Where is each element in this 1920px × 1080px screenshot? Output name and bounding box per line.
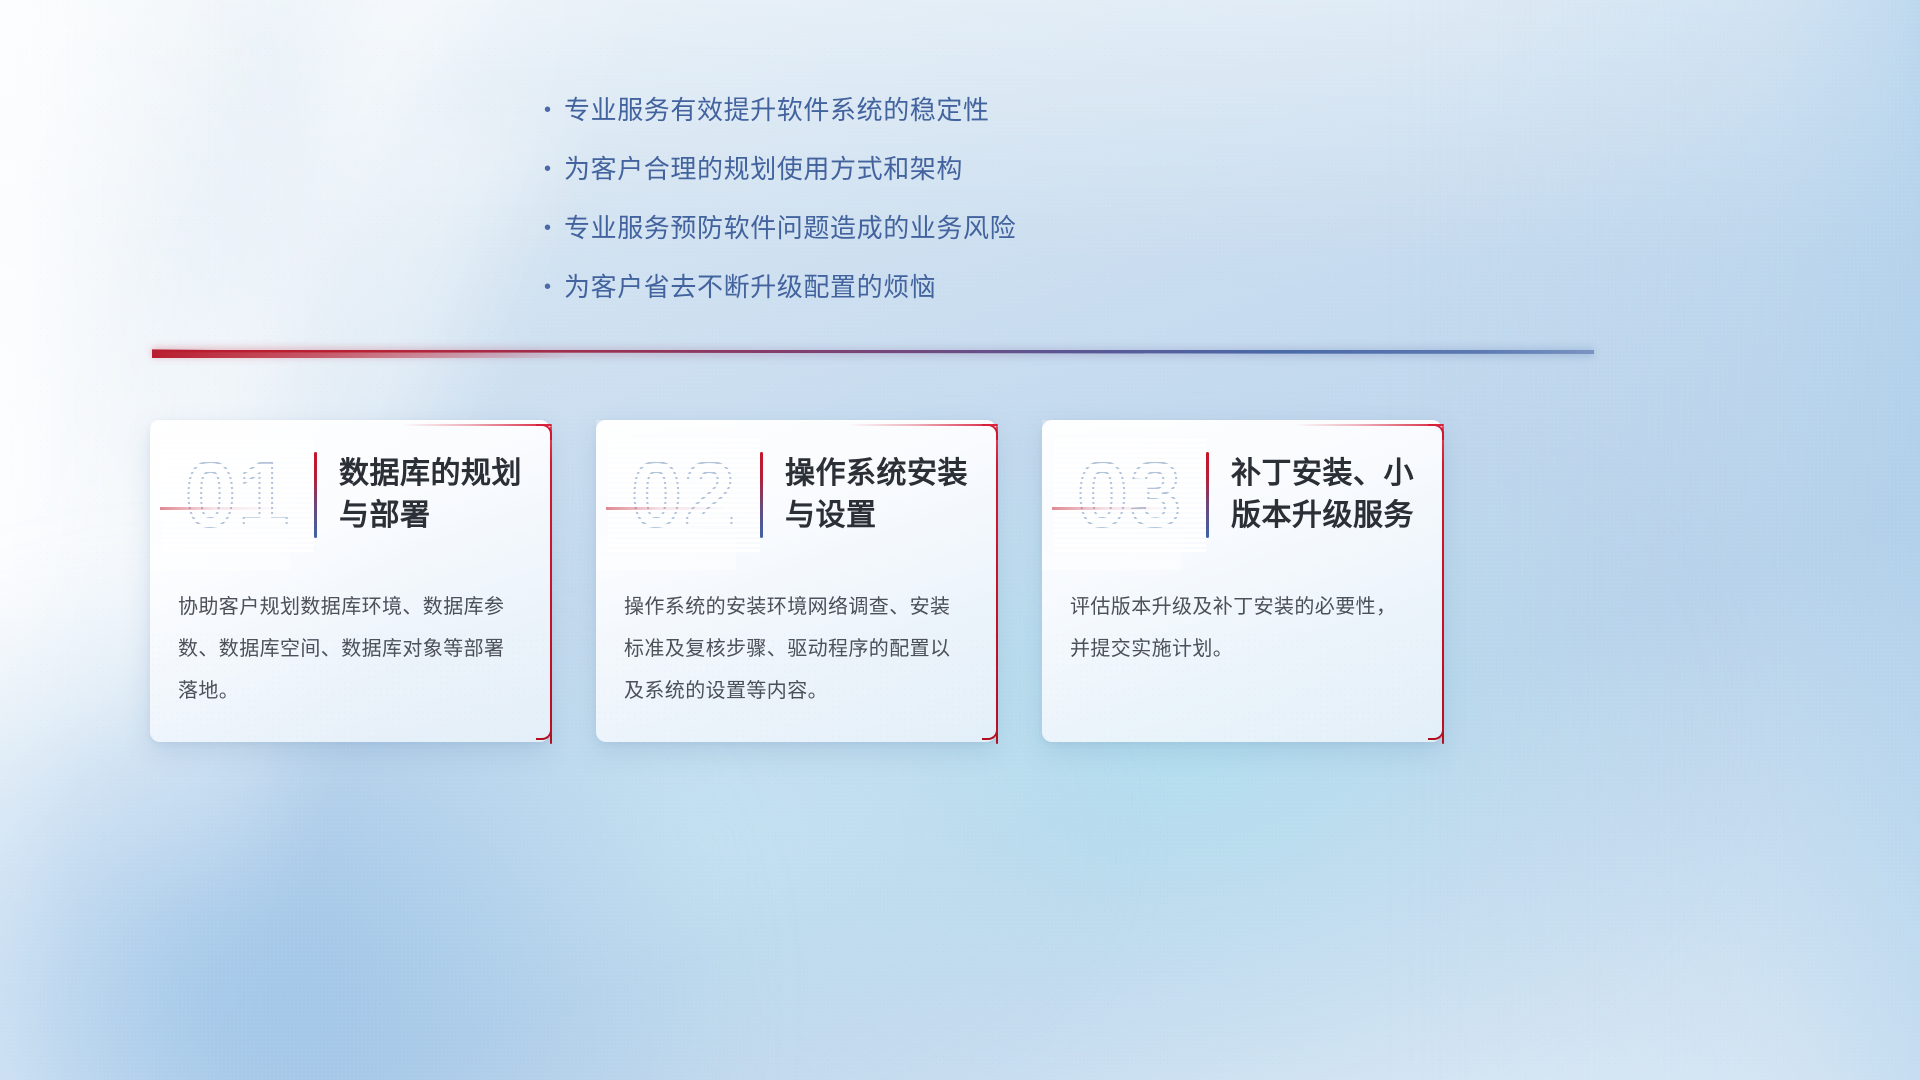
card-title: 数据库的规划与部署 <box>339 453 550 537</box>
card-accent-bar <box>996 426 998 744</box>
card-title: 补丁安装、小版本升级服务 <box>1231 453 1442 537</box>
card-header: 01 数据库的规划与部署 <box>150 420 550 570</box>
bullet-text: 专业服务预防软件问题造成的业务风险 <box>564 210 1016 246</box>
bullet-item: • 为客户合理的规划使用方式和架构 <box>540 151 1160 187</box>
card-accent-bar <box>550 426 552 744</box>
card-number: 01 <box>168 449 308 541</box>
bullet-marker-icon: • <box>540 151 564 187</box>
bullet-item: • 专业服务预防软件问题造成的业务风险 <box>540 210 1160 246</box>
service-card[interactable]: 01 数据库的规划与部署 协助客户规划数据库环境、数据库参数、数据库空间、数据库… <box>150 420 550 742</box>
section-divider <box>152 346 1594 360</box>
card-title: 操作系统安装与设置 <box>785 453 996 537</box>
bullet-item: • 为客户省去不断升级配置的烦恼 <box>540 269 1160 305</box>
bullet-marker-icon: • <box>540 269 564 305</box>
card-number: 03 <box>1060 449 1200 541</box>
card-row: 01 数据库的规划与部署 协助客户规划数据库环境、数据库参数、数据库空间、数据库… <box>150 420 1770 742</box>
bullet-text: 专业服务有效提升软件系统的稳定性 <box>564 92 990 128</box>
card-header: 03 补丁安装、小版本升级服务 <box>1042 420 1442 570</box>
card-divider-icon <box>314 452 317 538</box>
bullet-text: 为客户省去不断升级配置的烦恼 <box>564 269 936 305</box>
card-accent-bar <box>1442 426 1444 744</box>
bullet-list: • 专业服务有效提升软件系统的稳定性 • 为客户合理的规划使用方式和架构 • 专… <box>540 92 1160 328</box>
bullet-item: • 专业服务有效提升软件系统的稳定性 <box>540 92 1160 128</box>
card-number: 02 <box>614 449 754 541</box>
card-body-text: 协助客户规划数据库环境、数据库参数、数据库空间、数据库对象等部署落地。 <box>150 570 550 712</box>
card-divider-icon <box>1206 452 1209 538</box>
service-card[interactable]: 02 操作系统安装与设置 操作系统的安装环境网络调查、安装标准及复核步骤、驱动程… <box>596 420 996 742</box>
service-card[interactable]: 03 补丁安装、小版本升级服务 评估版本升级及补丁安装的必要性，并提交实施计划。 <box>1042 420 1442 742</box>
card-header: 02 操作系统安装与设置 <box>596 420 996 570</box>
bullet-marker-icon: • <box>540 210 564 246</box>
bullet-marker-icon: • <box>540 92 564 128</box>
card-body-text: 评估版本升级及补丁安装的必要性，并提交实施计划。 <box>1042 570 1442 670</box>
bullet-text: 为客户合理的规划使用方式和架构 <box>564 151 963 187</box>
card-divider-icon <box>760 452 763 538</box>
card-body-text: 操作系统的安装环境网络调查、安装标准及复核步骤、驱动程序的配置以及系统的设置等内… <box>596 570 996 712</box>
